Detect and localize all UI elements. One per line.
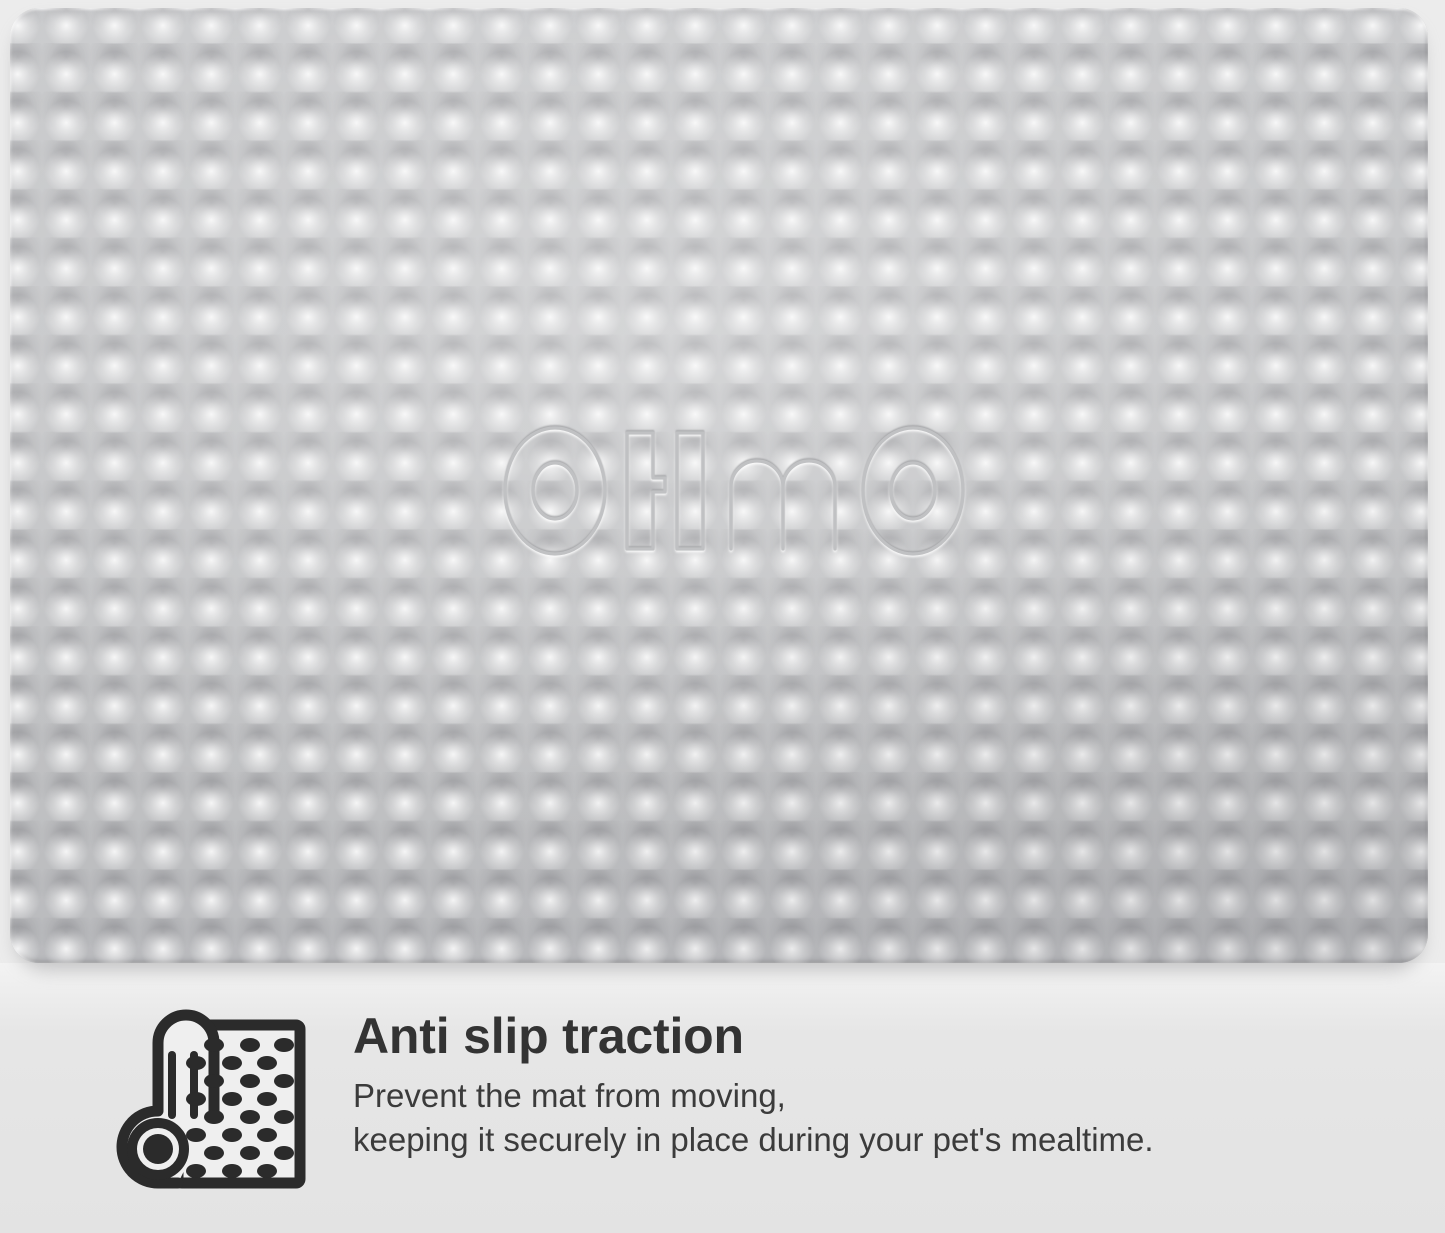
feature-title: Anti slip traction (353, 1006, 1403, 1066)
rolled-mat-with-dots-icon (114, 1003, 310, 1193)
mat-anti-slip-dot-texture (10, 8, 1428, 963)
product-feature-image: Anti slip traction Prevent the mat from … (0, 0, 1445, 1233)
feature-text-block: Anti slip traction Prevent the mat from … (353, 1006, 1403, 1162)
embossed-brand-logo (499, 417, 969, 565)
pet-mat-product-photo (10, 8, 1428, 963)
feature-description-line-2: keeping it securely in place during your… (353, 1118, 1403, 1162)
mat-surface-sheen (10, 8, 1428, 963)
mat-surface (10, 8, 1428, 963)
feature-description-line-1: Prevent the mat from moving, (353, 1074, 1403, 1118)
